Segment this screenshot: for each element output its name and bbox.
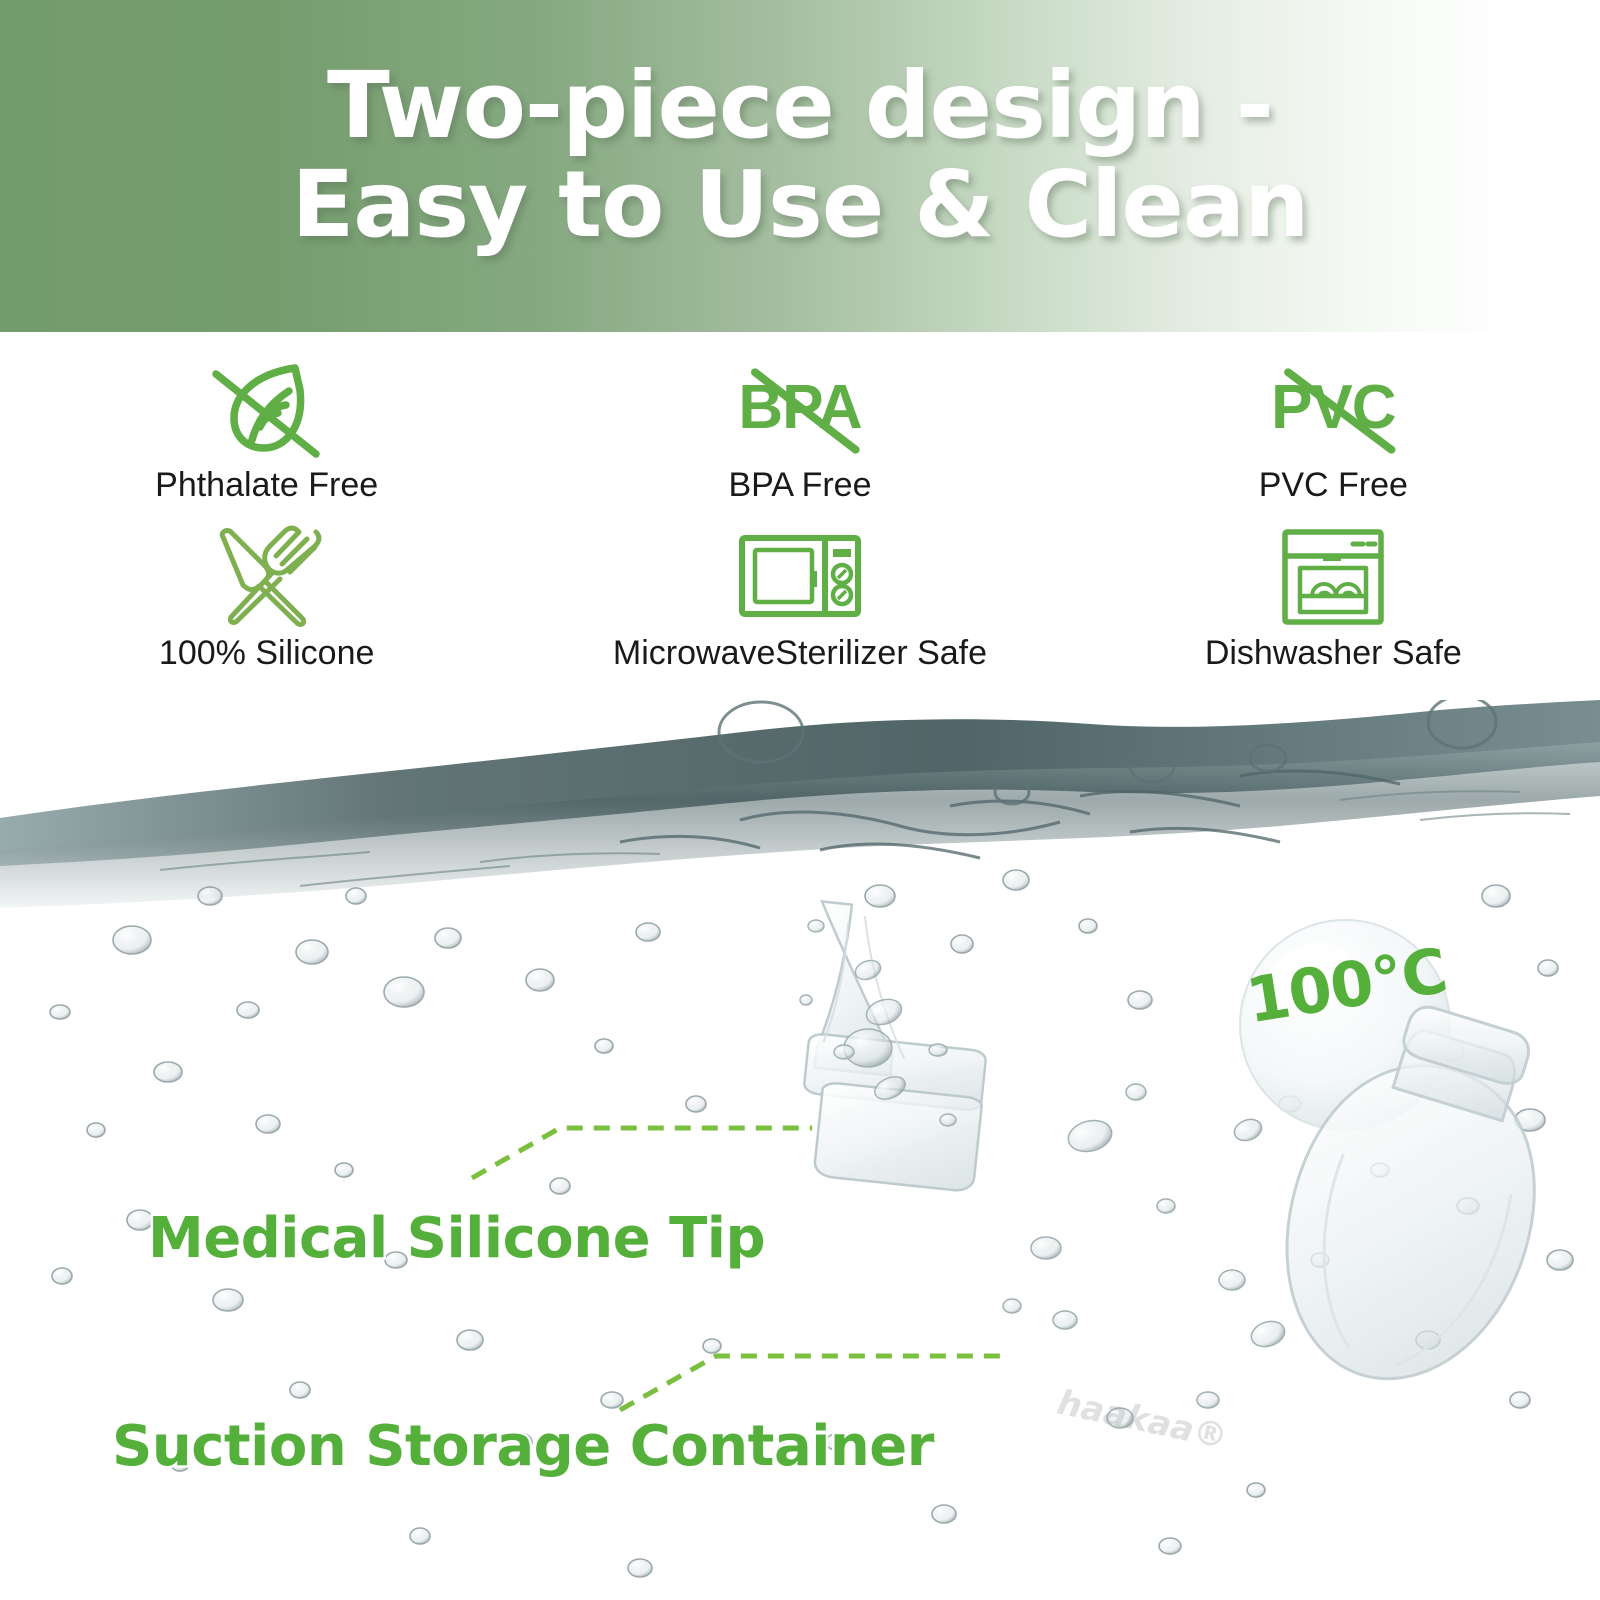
bpa-word: BPA (738, 373, 861, 442)
feature-label: 100% Silicone (159, 634, 374, 673)
title-line-2: Easy to Use & Clean (0, 155, 1600, 254)
feature-label: MicrowaveSterilizer Safe (613, 634, 987, 673)
leaf-crossed-icon (192, 356, 342, 460)
feature-dishwasher: Dishwasher Safe (1067, 524, 1600, 694)
feature-label: Phthalate Free (155, 466, 378, 505)
callout-medical-silicone-tip: Medical Silicone Tip (148, 1206, 765, 1271)
feature-row-1: Phthalate Free BPA BPA Free PVC (0, 356, 1600, 524)
callout-suction-storage-container: Suction Storage Container (112, 1414, 934, 1479)
feature-silicone: 100% Silicone (0, 524, 533, 694)
water-surface-line (0, 700, 1600, 908)
feature-phthalate-free: Phthalate Free (0, 356, 533, 524)
leader-line-container (620, 1356, 1000, 1410)
feature-badges: Phthalate Free BPA BPA Free PVC (0, 356, 1600, 708)
feature-label: PVC Free (1259, 466, 1408, 505)
product-infographic: Two-piece design - Easy to Use & Clean (0, 0, 1600, 1600)
fork-knife-icon (202, 524, 332, 628)
pvc-crossed-icon: PVC (1271, 356, 1395, 460)
page-title: Two-piece design - Easy to Use & Clean (0, 56, 1600, 255)
feature-label: BPA Free (728, 466, 871, 505)
microwave-icon (737, 524, 863, 628)
title-line-1: Two-piece design - (327, 52, 1273, 159)
pvc-word: PVC (1271, 373, 1395, 442)
dishwasher-icon (1279, 524, 1387, 628)
container-droplets (1003, 1084, 1288, 1428)
feature-bpa-free: BPA BPA Free (533, 356, 1066, 524)
header-banner: Two-piece design - Easy to Use & Clean (0, 0, 1600, 332)
feature-pvc-free: PVC PVC Free (1067, 356, 1600, 524)
feature-label: Dishwasher Safe (1205, 634, 1462, 673)
feature-row-2: 100% Silicone (0, 524, 1600, 694)
leader-line-tip (472, 1128, 812, 1178)
bpa-crossed-icon: BPA (738, 356, 861, 460)
feature-microwave: MicrowaveSterilizer Safe (533, 524, 1066, 694)
